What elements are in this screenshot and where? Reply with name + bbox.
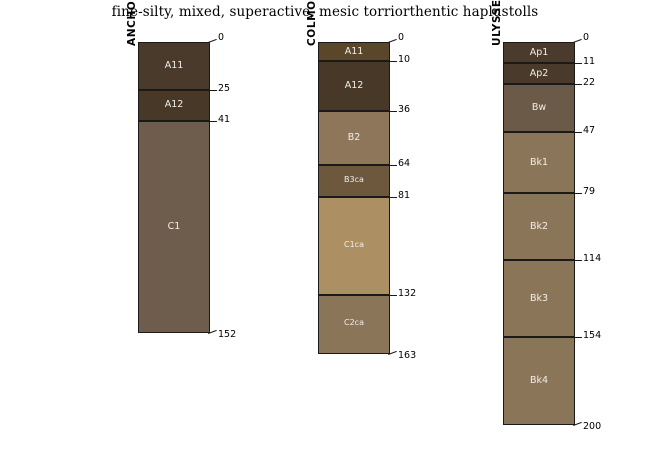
depth-label: 132	[398, 288, 416, 299]
depth-tick	[573, 260, 582, 261]
depth-label: 152	[218, 329, 236, 340]
horizon-a11[interactable]: A11	[318, 42, 390, 61]
horizon-label: A12	[139, 99, 209, 110]
horizon-label: C1	[139, 221, 209, 232]
profile-id-label: ULYSSES	[491, 0, 503, 46]
horizon-label: Ap2	[504, 68, 574, 79]
depth-tick	[388, 197, 397, 198]
depth-label: 114	[583, 253, 601, 264]
depth-label: 0	[398, 32, 404, 43]
depth-label: 154	[583, 330, 601, 341]
depth-label: 163	[398, 350, 416, 361]
depth-label: 79	[583, 186, 595, 197]
horizon-b2[interactable]: B2	[318, 111, 390, 165]
horizon-a12[interactable]: A12	[318, 61, 390, 111]
depth-label: 25	[218, 83, 230, 94]
depth-label: 41	[218, 114, 230, 125]
horizon-label: Bk1	[504, 157, 574, 168]
profile-id-label: COLMOR	[306, 0, 318, 46]
horizon-a12[interactable]: A12	[138, 90, 210, 121]
horizon-label: A11	[139, 60, 209, 71]
depth-label: 64	[398, 158, 410, 169]
depth-label: 10	[398, 54, 410, 65]
depth-tick	[388, 61, 397, 62]
profile-id-label: ANCHO	[126, 1, 138, 46]
depth-tick	[208, 90, 217, 91]
horizon-a11[interactable]: A11	[138, 42, 210, 90]
horizon-c1[interactable]: C1	[138, 121, 210, 334]
horizon-label: Bk2	[504, 221, 574, 232]
horizon-label: Bw	[504, 102, 574, 113]
depth-label: 200	[583, 421, 601, 432]
horizon-bk1[interactable]: Bk1	[503, 132, 575, 193]
depth-tick	[573, 63, 582, 64]
depth-tick	[388, 295, 397, 296]
horizon-label: C1ca	[319, 240, 389, 249]
horizon-label: C2ca	[319, 318, 389, 327]
horizon-bw[interactable]: Bw	[503, 84, 575, 132]
depth-tick	[573, 132, 582, 133]
depth-tick	[208, 39, 217, 43]
depth-label: 81	[398, 190, 410, 201]
depth-tick	[388, 111, 397, 112]
horizon-ap2[interactable]: Ap2	[503, 63, 575, 84]
horizon-c1ca[interactable]: C1ca	[318, 197, 390, 295]
horizon-bk4[interactable]: Bk4	[503, 337, 575, 425]
depth-label: 22	[583, 77, 595, 88]
horizon-bk2[interactable]: Bk2	[503, 193, 575, 260]
horizon-label: Bk4	[504, 375, 574, 386]
horizon-label: Ap1	[504, 47, 574, 58]
horizon-label: Bk3	[504, 293, 574, 304]
horizon-label: B2	[319, 132, 389, 143]
depth-label: 36	[398, 104, 410, 115]
depth-tick	[573, 337, 582, 338]
depth-label: 47	[583, 125, 595, 136]
depth-tick	[388, 165, 397, 166]
page-title: fine-silty, mixed, superactive, mesic to…	[0, 4, 650, 20]
horizon-b3ca[interactable]: B3ca	[318, 165, 390, 198]
horizon-label: A11	[319, 46, 389, 57]
depth-tick	[573, 39, 582, 43]
depth-tick	[573, 84, 582, 85]
depth-label: 11	[583, 56, 595, 67]
depth-label: 0	[218, 32, 224, 43]
depth-tick	[208, 121, 217, 122]
horizon-label: B3ca	[319, 175, 389, 184]
depth-tick	[388, 39, 397, 43]
horizon-c2ca[interactable]: C2ca	[318, 295, 390, 354]
horizon-bk3[interactable]: Bk3	[503, 260, 575, 337]
depth-label: 0	[583, 32, 589, 43]
horizon-label: A12	[319, 80, 389, 91]
depth-tick	[573, 193, 582, 194]
horizon-ap1[interactable]: Ap1	[503, 42, 575, 63]
